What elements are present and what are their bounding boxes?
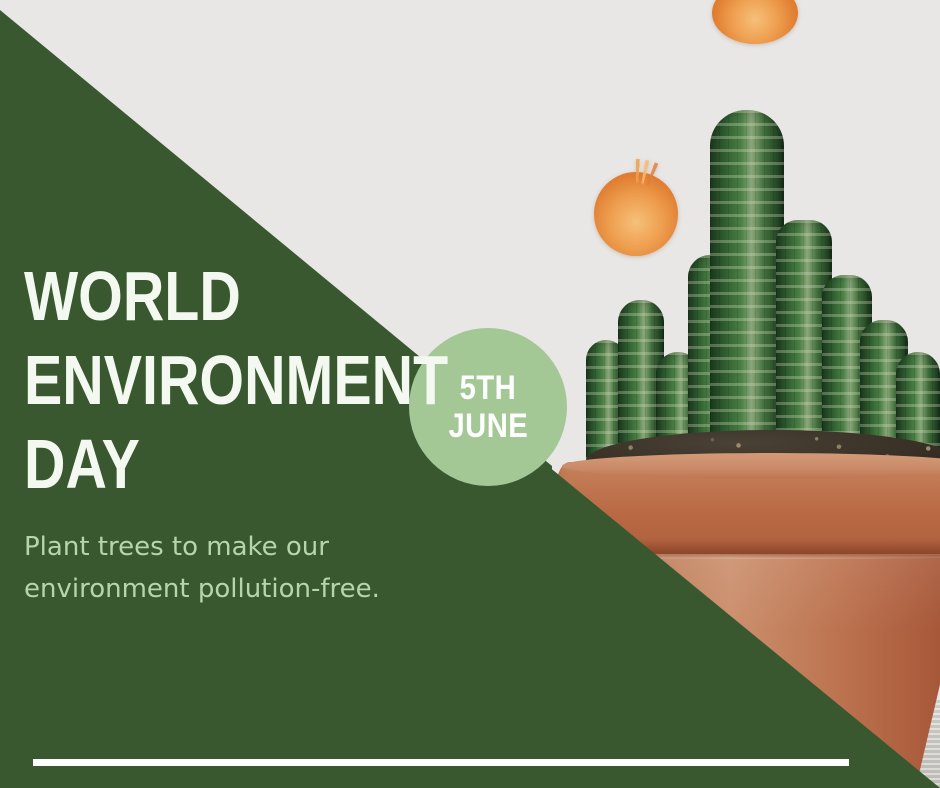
- headline-line-3: DAY: [24, 422, 352, 506]
- subtitle-text: Plant trees to make our environment poll…: [24, 506, 394, 610]
- headline-line-2: ENVIRONMENT: [24, 338, 352, 422]
- headline-line-1: WORLD: [24, 254, 352, 338]
- cactus-main-stem: [710, 110, 784, 470]
- text-block: WORLD ENVIRONMENT DAY Plant trees to mak…: [24, 254, 424, 610]
- page-title: WORLD ENVIRONMENT DAY: [24, 254, 424, 506]
- date-badge-day: 5TH: [460, 370, 517, 406]
- cactus-flower: [712, 0, 798, 44]
- bottom-rule: [33, 759, 849, 766]
- flowering-cactus: [560, 0, 940, 470]
- cactus-flower: [594, 172, 678, 256]
- poster-canvas: 5TH JUNE WORLD ENVIRONMENT DAY Plant tre…: [0, 0, 940, 788]
- date-badge-month: JUNE: [448, 408, 528, 444]
